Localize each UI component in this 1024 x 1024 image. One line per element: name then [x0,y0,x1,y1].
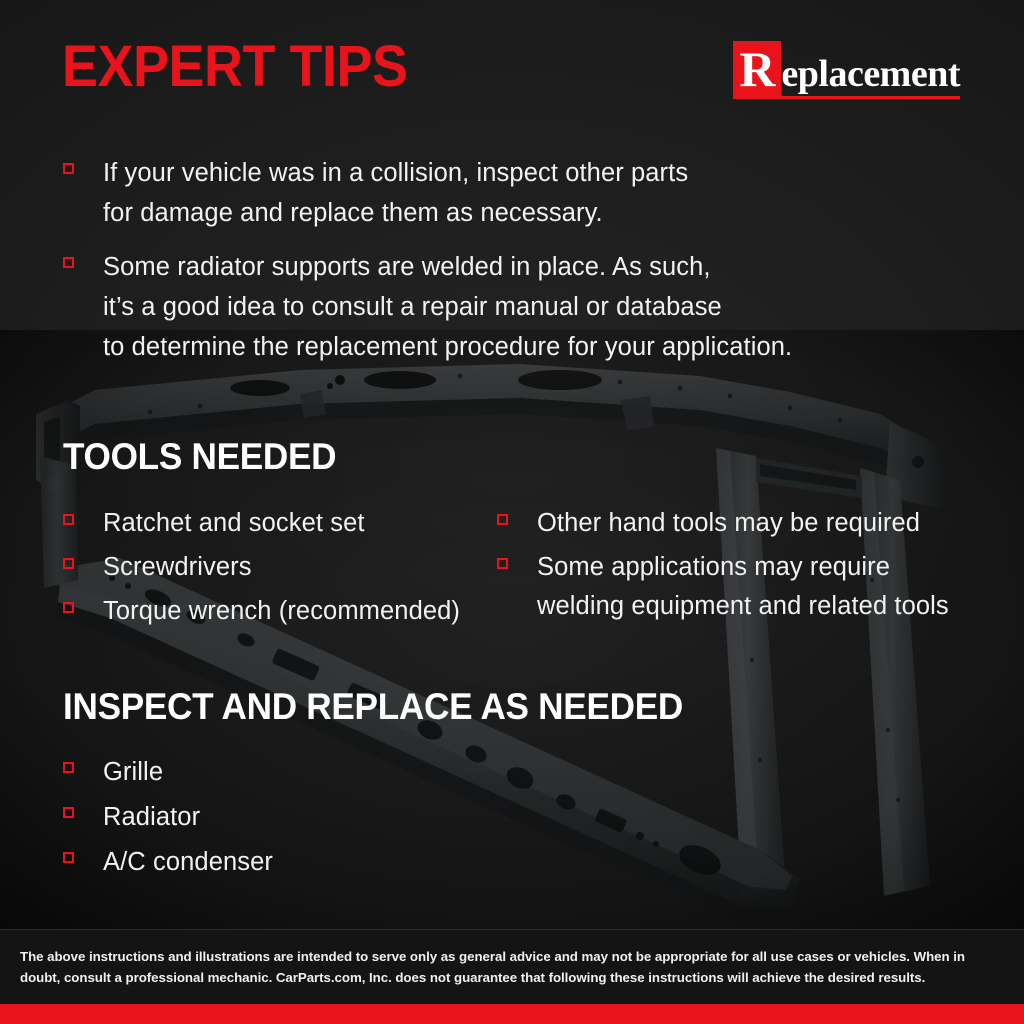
list-item: Torque wrench (recommended) [63,592,497,631]
tools-column-left: Ratchet and socket set Screwdrivers Torq… [63,504,497,631]
list-item: If your vehicle was in a collision, insp… [63,153,963,233]
footer-disclaimer-text: The above instructions and illustrations… [20,946,1002,988]
square-bullet-icon [63,602,74,613]
brand-logo: R eplacement [733,41,960,99]
inspect-item-text: Radiator [103,797,200,837]
list-item: Screwdrivers [63,548,497,587]
square-bullet-icon [497,558,508,569]
inspect-item-text: Grille [103,752,163,792]
square-bullet-icon [63,807,74,818]
expert-tips-list: If your vehicle was in a collision, insp… [63,153,963,367]
brand-mark-letter: R [733,41,781,99]
tool-item-text: Other hand tools may be required [537,504,920,543]
tip-text: If your vehicle was in a collision, insp… [103,153,688,233]
square-bullet-icon [63,257,74,268]
list-item: Some applications may require welding eq… [497,548,983,626]
tools-columns: Ratchet and socket set Screwdrivers Torq… [63,504,983,631]
brand-word-text: eplacement [781,55,960,96]
list-item: Ratchet and socket set [63,504,497,543]
list-item: Some radiator supports are welded in pla… [63,247,963,367]
brand-underline [781,96,960,99]
tools-column-right: Other hand tools may be required Some ap… [497,504,983,631]
square-bullet-icon [63,762,74,773]
list-item: Radiator [63,797,983,837]
tool-item-text: Ratchet and socket set [103,504,365,543]
square-bullet-icon [63,163,74,174]
footer-accent-bar [0,1004,1024,1024]
tool-item-text: Screwdrivers [103,548,252,587]
poster-footer: The above instructions and illustrations… [0,929,1024,1024]
tools-needed-section: TOOLS NEEDED Ratchet and socket set Scre… [63,437,983,631]
footer-body: The above instructions and illustrations… [0,930,1024,1004]
inspect-replace-section: INSPECT AND REPLACE AS NEEDED Grille Rad… [63,687,983,882]
square-bullet-icon [63,514,74,525]
brand-wordmark: eplacement [781,41,960,99]
list-item: A/C condenser [63,842,983,882]
poster-content: EXPERT TIPS R eplacement If your vehicle… [0,0,1024,1024]
tools-needed-heading: TOOLS NEEDED [63,437,937,477]
inspect-item-text: A/C condenser [103,842,273,882]
list-item: Grille [63,752,983,792]
page-title: EXPERT TIPS [62,38,408,96]
tool-item-text: Torque wrench (recommended) [103,592,460,631]
inspect-items-list: Grille Radiator A/C condenser [63,752,983,882]
inspect-replace-heading: INSPECT AND REPLACE AS NEEDED [63,687,937,727]
tip-text: Some radiator supports are welded in pla… [103,247,792,367]
square-bullet-icon [63,852,74,863]
poster-header: EXPERT TIPS R eplacement [0,0,1024,130]
square-bullet-icon [497,514,508,525]
list-item: Other hand tools may be required [497,504,983,543]
tool-item-text: Some applications may require welding eq… [537,548,949,626]
expert-tips-poster: EXPERT TIPS R eplacement If your vehicle… [0,0,1024,1024]
square-bullet-icon [63,558,74,569]
